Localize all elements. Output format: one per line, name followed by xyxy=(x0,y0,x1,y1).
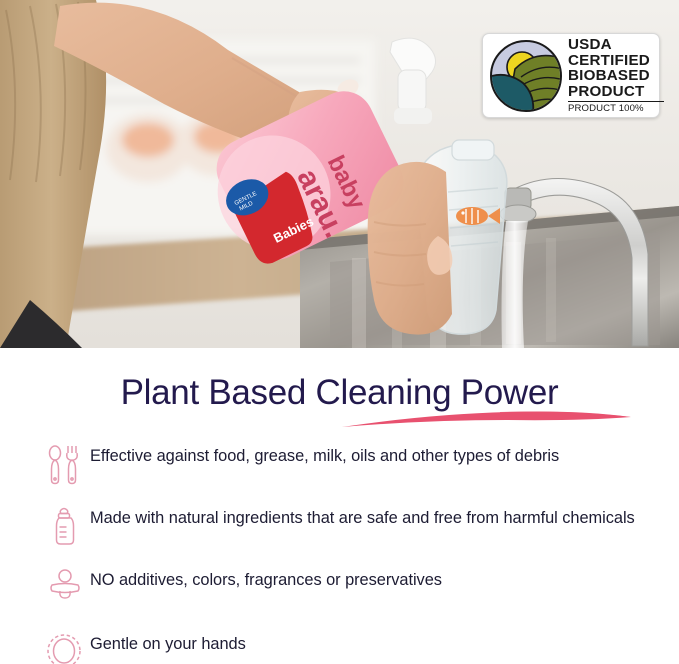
feature-content: Plant Based Cleaning Power xyxy=(0,348,679,664)
pacifier-icon xyxy=(44,567,90,611)
usda-line-3: BIOBASED xyxy=(568,68,664,84)
list-item: Made with natural ingredients that are s… xyxy=(44,505,644,549)
hand-circle-icon xyxy=(44,631,90,664)
usda-badge-text: USDA CERTIFIED BIOBASED PRODUCT PRODUCT … xyxy=(568,37,664,114)
usda-biobased-badge: USDA CERTIFIED BIOBASED PRODUCT PRODUCT … xyxy=(482,33,660,118)
list-item-label: Effective against food, grease, milk, oi… xyxy=(90,443,559,468)
feature-list: Effective against food, grease, milk, oi… xyxy=(44,443,644,664)
baby-bottle-icon xyxy=(44,505,90,549)
usda-line-2: CERTIFIED xyxy=(568,53,664,69)
list-item: Gentle on your hands xyxy=(44,631,644,664)
list-item: Effective against food, grease, milk, oi… xyxy=(44,443,644,487)
hero-photo: Babies GENTLE MILD arau. baby xyxy=(0,0,679,348)
usda-badge-subtext: PRODUCT 100% xyxy=(568,101,664,114)
list-item: NO additives, colors, fragrances or pres… xyxy=(44,567,644,611)
list-item-label: Gentle on your hands xyxy=(90,631,246,656)
product-feature-page: Babies GENTLE MILD arau. baby xyxy=(0,0,679,664)
usda-line-4: PRODUCT xyxy=(568,84,664,100)
usda-biobased-logo-icon xyxy=(489,0,563,250)
title-underline-swoosh-icon xyxy=(340,408,635,430)
list-item-label: NO additives, colors, fragrances or pres… xyxy=(90,567,442,592)
usda-line-1: USDA xyxy=(568,37,664,53)
list-item-label: Made with natural ingredients that are s… xyxy=(90,505,635,530)
page-title: Plant Based Cleaning Power xyxy=(0,373,679,413)
page-title-wrap: Plant Based Cleaning Power xyxy=(0,373,679,413)
spoon-fork-icon xyxy=(44,443,90,487)
